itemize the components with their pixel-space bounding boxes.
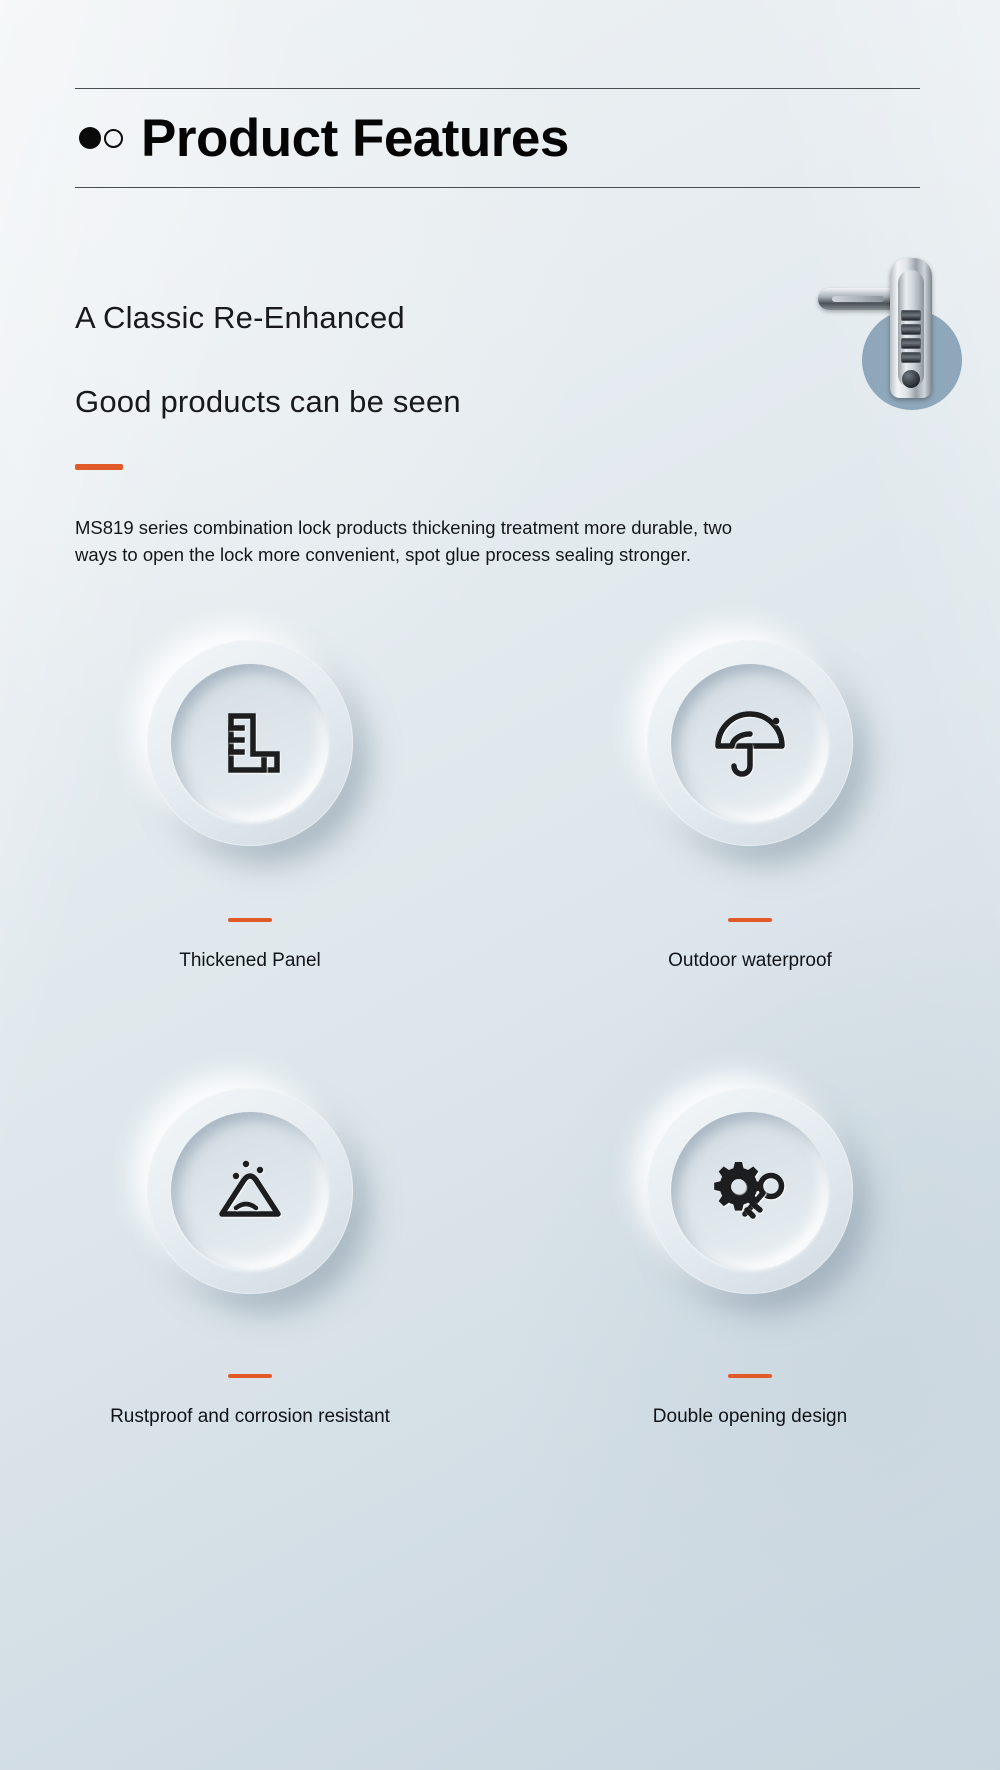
- combination-lock-photo: [890, 258, 932, 398]
- feature-disc-inner: [171, 1112, 329, 1270]
- feature-divider: [728, 918, 772, 922]
- feature-item-thickened-panel: Thickened Panel: [0, 640, 500, 972]
- header-bottom-rule: [75, 187, 920, 188]
- lock-dials: [901, 310, 921, 363]
- page-title: Product Features: [141, 112, 569, 165]
- product-features-page: Product Features A Classic Re-Enhanced G…: [0, 0, 1000, 1770]
- lock-dial: [901, 324, 921, 335]
- header-top-rule: [75, 88, 920, 89]
- sand-dune-icon: [210, 1152, 290, 1230]
- outline-circle-icon: [104, 129, 123, 148]
- page-header: Product Features: [75, 88, 925, 188]
- title-row: Product Features: [75, 89, 925, 187]
- feature-item-double-opening: Double opening design: [500, 1088, 1000, 1428]
- feature-grid: Thickened Panel Outdoor waterproof: [0, 640, 1000, 1428]
- intro-accent-bar: [75, 464, 123, 470]
- filled-circle-icon: [79, 127, 101, 149]
- feature-row-1: Thickened Panel Outdoor waterproof: [0, 640, 1000, 972]
- feature-divider: [228, 1374, 272, 1378]
- feature-label: Double opening design: [653, 1406, 847, 1428]
- intro-headline-2: Good products can be seen: [75, 384, 775, 420]
- product-photo: [810, 258, 1000, 418]
- title-bullets: [79, 127, 123, 149]
- gear-key-icon: [709, 1152, 791, 1230]
- feature-row-2: Rustproof and corrosion resistant: [0, 1088, 1000, 1428]
- feature-disc-outer: [147, 640, 353, 846]
- intro-body-text: MS819 series combination lock products t…: [75, 514, 775, 568]
- feature-label: Outdoor waterproof: [668, 950, 832, 972]
- feature-label: Thickened Panel: [179, 950, 321, 972]
- ruler-icon: [211, 704, 289, 782]
- intro-block: A Classic Re-Enhanced Good products can …: [75, 300, 775, 568]
- feature-disc-inner: [671, 1112, 829, 1270]
- feature-disc-outer: [147, 1088, 353, 1294]
- feature-divider: [228, 918, 272, 922]
- lock-handle-icon: [818, 288, 900, 310]
- feature-disc-outer: [647, 1088, 853, 1294]
- lock-knob-icon: [902, 370, 920, 388]
- feature-disc-outer: [647, 640, 853, 846]
- lock-dial: [901, 352, 921, 363]
- feature-item-outdoor-waterproof: Outdoor waterproof: [500, 640, 1000, 972]
- lock-dial: [901, 310, 921, 321]
- umbrella-icon: [710, 704, 790, 782]
- lock-dial: [901, 338, 921, 349]
- feature-disc-inner: [671, 664, 829, 822]
- feature-disc-inner: [171, 664, 329, 822]
- feature-item-rustproof: Rustproof and corrosion resistant: [0, 1088, 500, 1428]
- intro-headline-1: A Classic Re-Enhanced: [75, 300, 775, 336]
- feature-divider: [728, 1374, 772, 1378]
- feature-label: Rustproof and corrosion resistant: [110, 1406, 390, 1428]
